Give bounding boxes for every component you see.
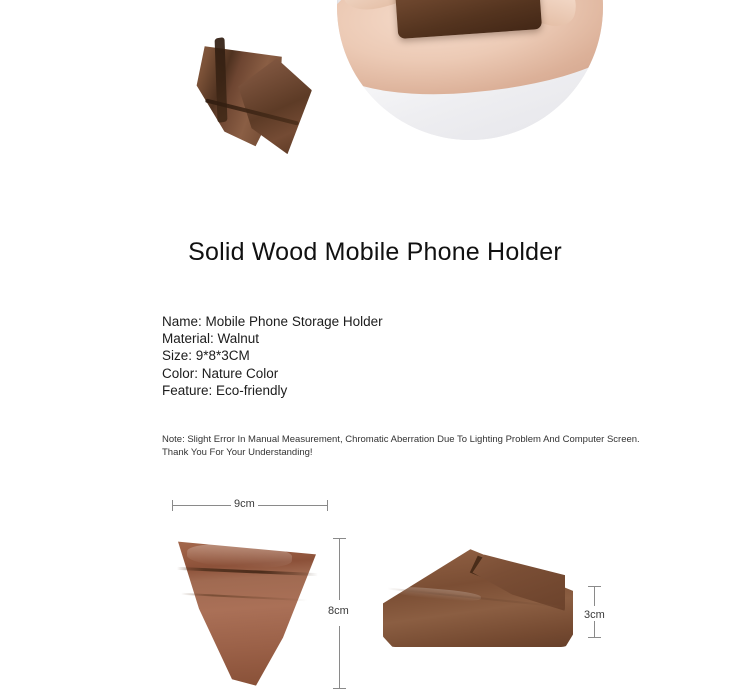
spec-item-size: Size: 9*8*3CM xyxy=(162,347,383,364)
dimension-line-depth-lower xyxy=(594,621,595,637)
dimension-label-width: 9cm xyxy=(231,498,258,510)
page-title: Solid Wood Mobile Phone Holder xyxy=(0,238,750,267)
dimension-cap-depth-top xyxy=(588,586,601,587)
dimension-label-height: 8cm xyxy=(325,605,352,617)
dimension-label-depth: 3cm xyxy=(581,609,608,621)
spec-item-feature: Feature: Eco-friendly xyxy=(162,382,383,399)
note-line-1: Note: Slight Error In Manual Measurement… xyxy=(162,434,702,447)
product-photo-in-hand xyxy=(337,0,603,140)
disclaimer-note: Note: Slight Error In Manual Measurement… xyxy=(162,434,702,459)
product-photo-side-view xyxy=(383,543,573,647)
dimension-cap-height-top xyxy=(333,538,346,539)
dimension-line-height-upper xyxy=(339,538,340,600)
dimension-cap-width-right xyxy=(327,500,328,511)
spec-item-material: Material: Walnut xyxy=(162,330,383,347)
product-photo-top-view xyxy=(172,532,322,692)
note-line-2: Thank You For Your Understanding! xyxy=(162,447,702,460)
dimension-cap-width-left xyxy=(172,500,173,511)
dimension-line-depth-upper xyxy=(594,586,595,606)
product-photo-angled xyxy=(186,22,316,167)
dimension-line-height-lower xyxy=(339,626,340,688)
spec-list: Name: Mobile Phone Storage Holder Materi… xyxy=(162,313,383,399)
spec-item-name: Name: Mobile Phone Storage Holder xyxy=(162,313,383,330)
dimension-cap-height-bottom xyxy=(333,688,346,689)
dimension-cap-depth-bottom xyxy=(588,637,601,638)
spec-item-color: Color: Nature Color xyxy=(162,365,383,382)
product-detail-image: Solid Wood Mobile Phone Holder Name: Mob… xyxy=(0,0,750,700)
